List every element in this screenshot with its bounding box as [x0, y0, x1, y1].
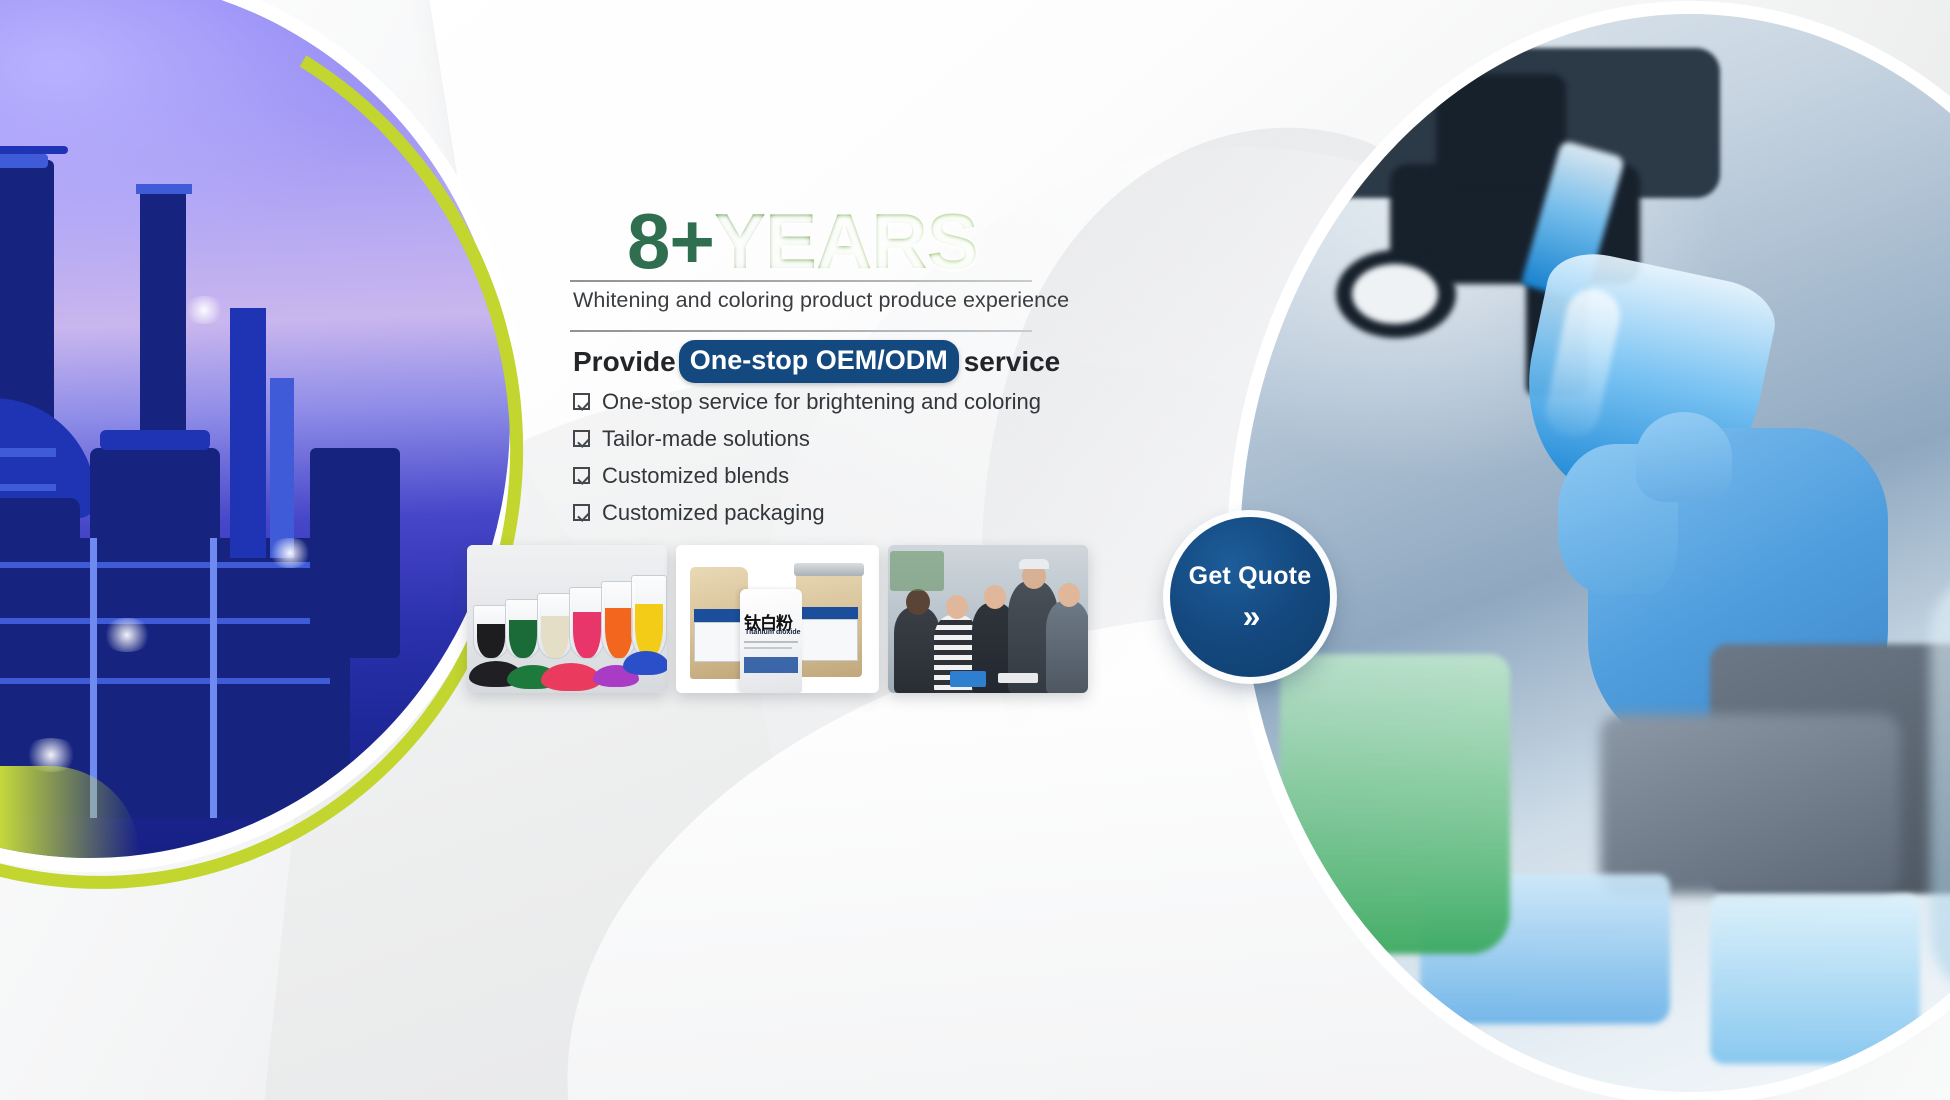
- color-masterbatch-granules-photo: [467, 545, 667, 693]
- checkbox-checked-icon: [573, 467, 590, 484]
- thumbnail-caption-en: Titanium dioxide: [745, 629, 801, 636]
- oem-odm-badge: One-stop OEM/ODM: [679, 340, 959, 383]
- team-meeting-photo: [888, 545, 1088, 693]
- product-thumbnail-strip: 钛白粉 Titanium dioxide: [467, 545, 1088, 693]
- feature-list: One-stop service for brightening and col…: [573, 383, 1041, 531]
- banner-subtitle: Whitening and coloring product produce e…: [573, 288, 1069, 313]
- get-quote-button[interactable]: Get Quote »: [1170, 517, 1330, 677]
- checkbox-checked-icon: [573, 430, 590, 447]
- list-item: Customized blends: [573, 457, 1041, 494]
- titanium-dioxide-packaging-photo: 钛白粉 Titanium dioxide: [676, 545, 879, 693]
- list-item: Customized packaging: [573, 494, 1041, 531]
- checkbox-checked-icon: [573, 393, 590, 410]
- provide-suffix: service: [964, 346, 1061, 378]
- headline-word: YEARS: [714, 197, 978, 285]
- laboratory-flask-photo: [1240, 14, 1950, 1092]
- checkbox-checked-icon: [573, 504, 590, 521]
- banner-content: 8+YEARS Whitening and coloring product p…: [565, 0, 1085, 1100]
- provide-prefix: Provide: [573, 346, 676, 378]
- get-quote-label: Get Quote: [1189, 562, 1312, 591]
- list-item-label: Customized blends: [602, 463, 789, 489]
- list-item: One-stop service for brightening and col…: [573, 383, 1041, 420]
- list-item: Tailor-made solutions: [573, 420, 1041, 457]
- list-item-label: Tailor-made solutions: [602, 426, 810, 452]
- list-item-label: Customized packaging: [602, 500, 825, 526]
- double-chevron-right-icon: »: [1243, 600, 1258, 632]
- divider-top: [570, 280, 1032, 282]
- divider-bottom: [570, 330, 1032, 332]
- page-title: 8+YEARS: [627, 196, 978, 287]
- list-item-label: One-stop service for brightening and col…: [602, 389, 1041, 415]
- headline-number: 8+: [627, 197, 714, 285]
- provide-service-line: Provide One-stop OEM/ODM service: [573, 340, 1060, 383]
